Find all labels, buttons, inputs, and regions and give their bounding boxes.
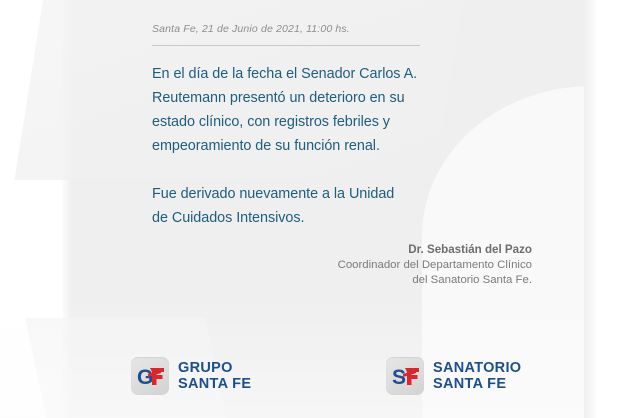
svg-text:S: S: [392, 366, 406, 389]
sanatorio-logo-mark-icon: S: [386, 357, 424, 395]
paragraph-2: Fue derivado nuevamente a la Unidad de C…: [152, 182, 462, 230]
paragraph-1-line: Reutemann presentó un deterioro en su: [152, 86, 462, 110]
paragraph-1: En el día de la fecha el Senador Carlos …: [152, 62, 462, 158]
paragraph-1-line: En el día de la fecha el Senador Carlos …: [152, 62, 462, 86]
grupo-logo-line-1: GRUPO: [178, 360, 251, 376]
signature-role-line-1: Coordinador del Departamento Clínico: [232, 258, 532, 274]
paragraph-1-line: estado clínico, con registros febriles y: [152, 110, 462, 134]
dateline: Santa Fe, 21 de Junio de 2021, 11:00 hs.: [152, 23, 350, 35]
sanatorio-logo-line-2: SANTA FE: [433, 376, 521, 392]
signature-role-line-2: del Sanatorio Santa Fe.: [232, 273, 532, 289]
grupo-logo-line-2: SANTA FE: [178, 376, 251, 392]
grupo-logo-mark-icon: G: [131, 357, 169, 395]
signature-name: Dr. Sebastián del Pazo: [232, 242, 532, 258]
logo-sanatorio-santa-fe: S SANATORIO SANTA FE: [386, 357, 521, 395]
sanatorio-logo-line-1: SANATORIO: [433, 360, 521, 376]
dateline-divider: [152, 45, 420, 46]
announcement-body: En el día de la fecha el Senador Carlos …: [152, 62, 462, 230]
logo-grupo-santa-fe: G GRUPO SANTA FE: [131, 357, 251, 395]
paragraph-spacer: [152, 158, 462, 182]
signature-block: Dr. Sebastián del Pazo Coordinador del D…: [232, 242, 532, 289]
grupo-logo-text: GRUPO SANTA FE: [178, 360, 251, 392]
paragraph-2-line: de Cuidados Intensivos.: [152, 206, 462, 230]
paragraph-1-line: empeoramiento de su función renal.: [152, 134, 462, 158]
paragraph-2-line: Fue derivado nuevamente a la Unidad: [152, 182, 462, 206]
sanatorio-logo-text: SANATORIO SANTA FE: [433, 360, 521, 392]
